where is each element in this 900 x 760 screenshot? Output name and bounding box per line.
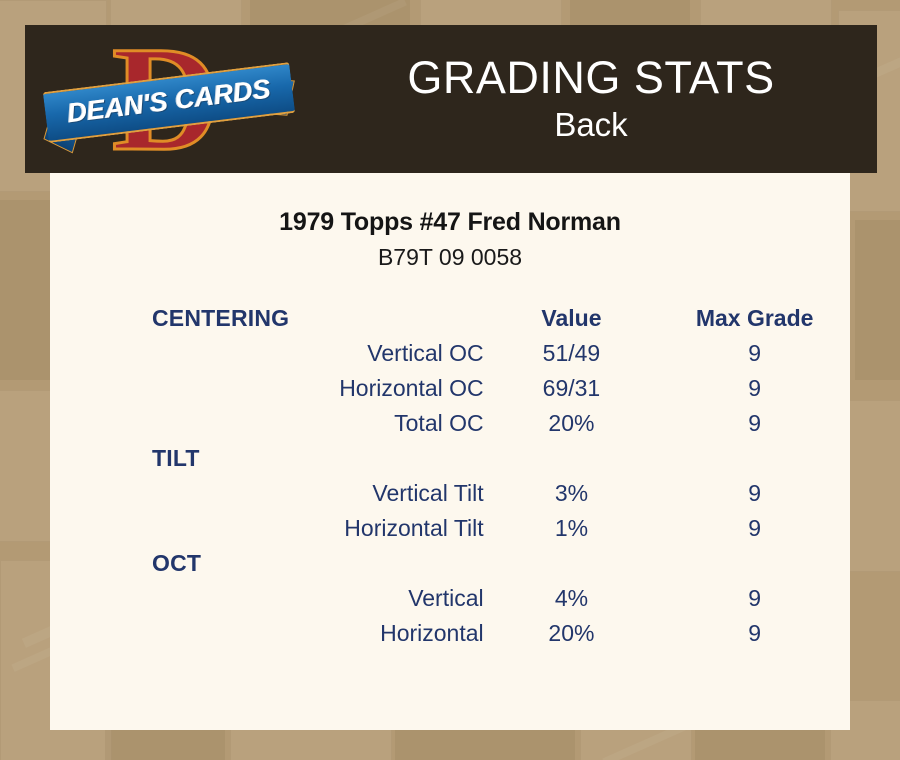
stat-row: Horizontal20%9 xyxy=(50,616,850,651)
section-header-tilt: TILT xyxy=(50,441,484,476)
section-header-row: CENTERINGValueMax Grade xyxy=(50,301,850,336)
stat-row: Horizontal Tilt1%9 xyxy=(50,511,850,546)
grading-stats-table: CENTERINGValueMax GradeVertical OC51/499… xyxy=(50,301,850,651)
stat-max-grade: 9 xyxy=(659,406,850,441)
stat-max-grade: 9 xyxy=(659,371,850,406)
stat-value: 69/31 xyxy=(484,371,660,406)
stat-label: Horizontal OC xyxy=(50,371,484,406)
card-serial-number: B79T 09 0058 xyxy=(50,244,850,271)
stat-row: Vertical OC51/499 xyxy=(50,336,850,371)
stat-label: Vertical xyxy=(50,581,484,616)
column-header-max-grade xyxy=(659,441,850,476)
grading-stats-panel: 1979 Topps #47 Fred Norman B79T 09 0058 … xyxy=(50,173,850,730)
stat-row: Vertical4%9 xyxy=(50,581,850,616)
stat-max-grade: 9 xyxy=(659,336,850,371)
stat-label: Vertical Tilt xyxy=(50,476,484,511)
stat-value: 20% xyxy=(484,616,660,651)
column-header-max-grade: Max Grade xyxy=(659,301,850,336)
page-subtitle: Back xyxy=(554,105,627,145)
stat-row: Horizontal OC69/319 xyxy=(50,371,850,406)
stat-label: Horizontal xyxy=(50,616,484,651)
section-header-row: OCT xyxy=(50,546,850,581)
deans-cards-logo[interactable]: D DEAN'S CARDS xyxy=(45,27,295,172)
stat-value: 1% xyxy=(484,511,660,546)
stat-value: 20% xyxy=(484,406,660,441)
stat-value: 3% xyxy=(484,476,660,511)
stat-value: 4% xyxy=(484,581,660,616)
stat-max-grade: 9 xyxy=(659,476,850,511)
stat-label: Vertical OC xyxy=(50,336,484,371)
stat-max-grade: 9 xyxy=(659,511,850,546)
column-header-max-grade xyxy=(659,546,850,581)
stat-label: Total OC xyxy=(50,406,484,441)
section-header-oct: OCT xyxy=(50,546,484,581)
stat-max-grade: 9 xyxy=(659,616,850,651)
section-header-centering: CENTERING xyxy=(50,301,484,336)
stat-row: Vertical Tilt3%9 xyxy=(50,476,850,511)
header-title-group: GRADING STATS Back xyxy=(305,25,877,173)
stat-value: 51/49 xyxy=(484,336,660,371)
column-header-value: Value xyxy=(484,301,660,336)
column-header-value xyxy=(484,441,660,476)
page-title: GRADING STATS xyxy=(407,53,774,103)
card-title: 1979 Topps #47 Fred Norman xyxy=(50,208,850,237)
stat-max-grade: 9 xyxy=(659,581,850,616)
app-header-bar: D DEAN'S CARDS GRADING STATS Back xyxy=(25,25,877,173)
stat-row: Total OC20%9 xyxy=(50,406,850,441)
stat-label: Horizontal Tilt xyxy=(50,511,484,546)
logo-ribbon: DEAN'S CARDS xyxy=(45,73,293,131)
column-header-value xyxy=(484,546,660,581)
section-header-row: TILT xyxy=(50,441,850,476)
